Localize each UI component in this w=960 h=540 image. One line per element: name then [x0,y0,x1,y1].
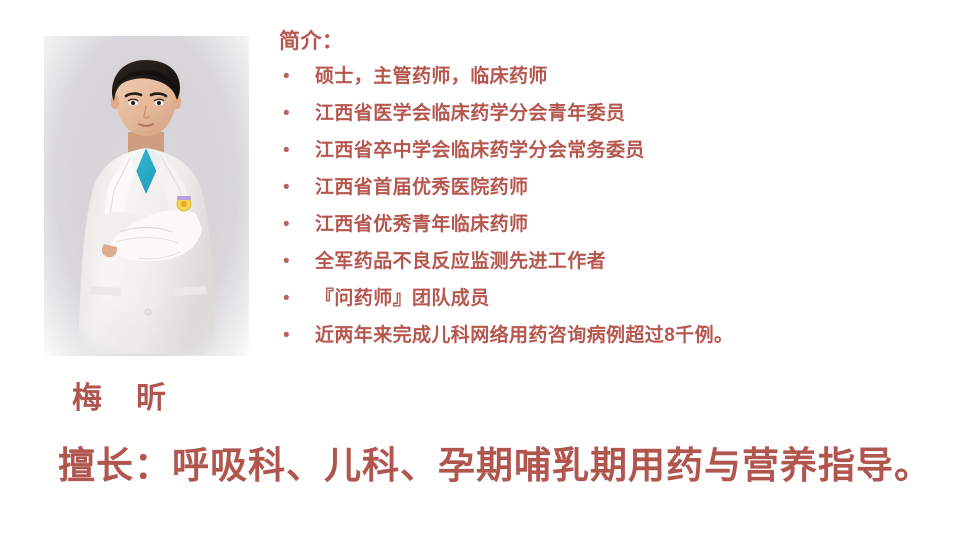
slide-canvas: 梅 昕 简介： • 硕士，主管药师，临床药师 • 江西省医学会临床药学分会青年委… [0,0,960,540]
list-item: • 江西省卒中学会临床药学分会常务委员 [279,134,939,171]
bullet-dot-icon: • [279,97,315,131]
list-item: • 硕士，主管药师，临床药师 [279,60,939,97]
list-item: • 近两年来完成儿科网络用药咨询病例超过8千例。 [279,319,939,356]
bullet-text: 江西省优秀青年临床药师 [315,208,939,242]
bullet-text: 『问药师』团队成员 [315,282,939,316]
bullet-dot-icon: • [279,282,315,316]
list-item: • 江西省医学会临床药学分会青年委员 [279,97,939,134]
doctor-portrait-photo [44,36,249,356]
list-item: • 全军药品不良反应监测先进工作者 [279,245,939,282]
bullet-dot-icon: • [279,171,315,205]
bullet-dot-icon: • [279,60,315,94]
bullet-dot-icon: • [279,208,315,242]
list-item: • 江西省首届优秀医院药师 [279,171,939,208]
list-item: • 『问药师』团队成员 [279,282,939,319]
bullet-dot-icon: • [279,134,315,168]
bullet-text: 全军药品不良反应监测先进工作者 [315,245,939,279]
bullet-text: 江西省卒中学会临床药学分会常务委员 [315,134,939,168]
specialty-line: 擅长：呼吸科、儿科、孕期哺乳期用药与营养指导。 [58,443,932,489]
intro-title: 简介： [279,28,939,56]
intro-bullet-list: • 硕士，主管药师，临床药师 • 江西省医学会临床药学分会青年委员 • 江西省卒… [279,60,939,356]
list-item: • 江西省优秀青年临床药师 [279,208,939,245]
doctor-name: 梅 昕 [72,382,168,415]
bullet-text: 硕士，主管药师，临床药师 [315,60,939,94]
bullet-text: 江西省医学会临床药学分会青年委员 [315,97,939,131]
bullet-dot-icon: • [279,245,315,279]
bullet-dot-icon: • [279,319,315,353]
bullet-text: 近两年来完成儿科网络用药咨询病例超过8千例。 [315,319,939,353]
bullet-text: 江西省首届优秀医院药师 [315,171,939,205]
intro-block: 简介： • 硕士，主管药师，临床药师 • 江西省医学会临床药学分会青年委员 • … [279,28,939,356]
portrait-figure [44,36,249,356]
